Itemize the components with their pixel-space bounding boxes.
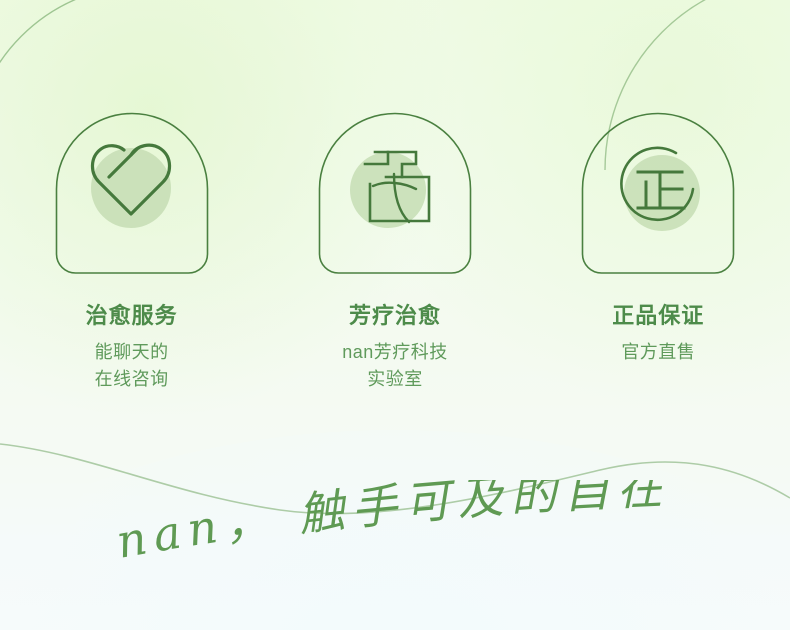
feature-item-aromatherapy[interactable]: 芳疗治愈 nan芳疗科技 实验室 [272,85,517,393]
svg-text:nan， 触手可及的自在生活: nan， 触手可及的自在生活 [0,480,671,569]
feature-item-authenticity[interactable]: 正品保证 官方直售 [536,85,781,366]
feature-title: 正品保证 [612,302,704,330]
icon-frame-3 [581,85,735,275]
feature-subtitle-line: 在线咨询 [95,366,169,393]
icon-frame-2 [318,85,472,275]
feature-subtitle-line: 实验室 [342,366,448,393]
feature-title: 芳疗治愈 [349,302,441,330]
feature-subtitle-line: 能聊天的 [95,339,169,366]
icon-frame-1 [55,85,209,275]
promo-banner: 治愈服务 能聊天的 在线咨询 [0,0,790,630]
background-glow-bottom [0,430,790,630]
feature-subtitle-line: nan芳疗科技 [342,339,448,366]
feature-title: 治愈服务 [86,302,178,330]
feature-subtitle: nan芳疗科技 实验室 [342,339,448,393]
feature-subtitle: 能聊天的 在线咨询 [95,339,169,393]
slogan: nan， 触手可及的自在生活 [0,480,790,610]
slogan-text: nan， 触手可及的自在生活 [0,480,671,569]
feature-subtitle: 官方直售 [621,339,695,366]
feature-subtitle-line: 官方直售 [621,339,695,366]
feature-item-healing-service[interactable]: 治愈服务 能聊天的 在线咨询 [9,85,254,393]
feature-list: 治愈服务 能聊天的 在线咨询 [0,85,790,393]
wave-divider [0,420,790,540]
